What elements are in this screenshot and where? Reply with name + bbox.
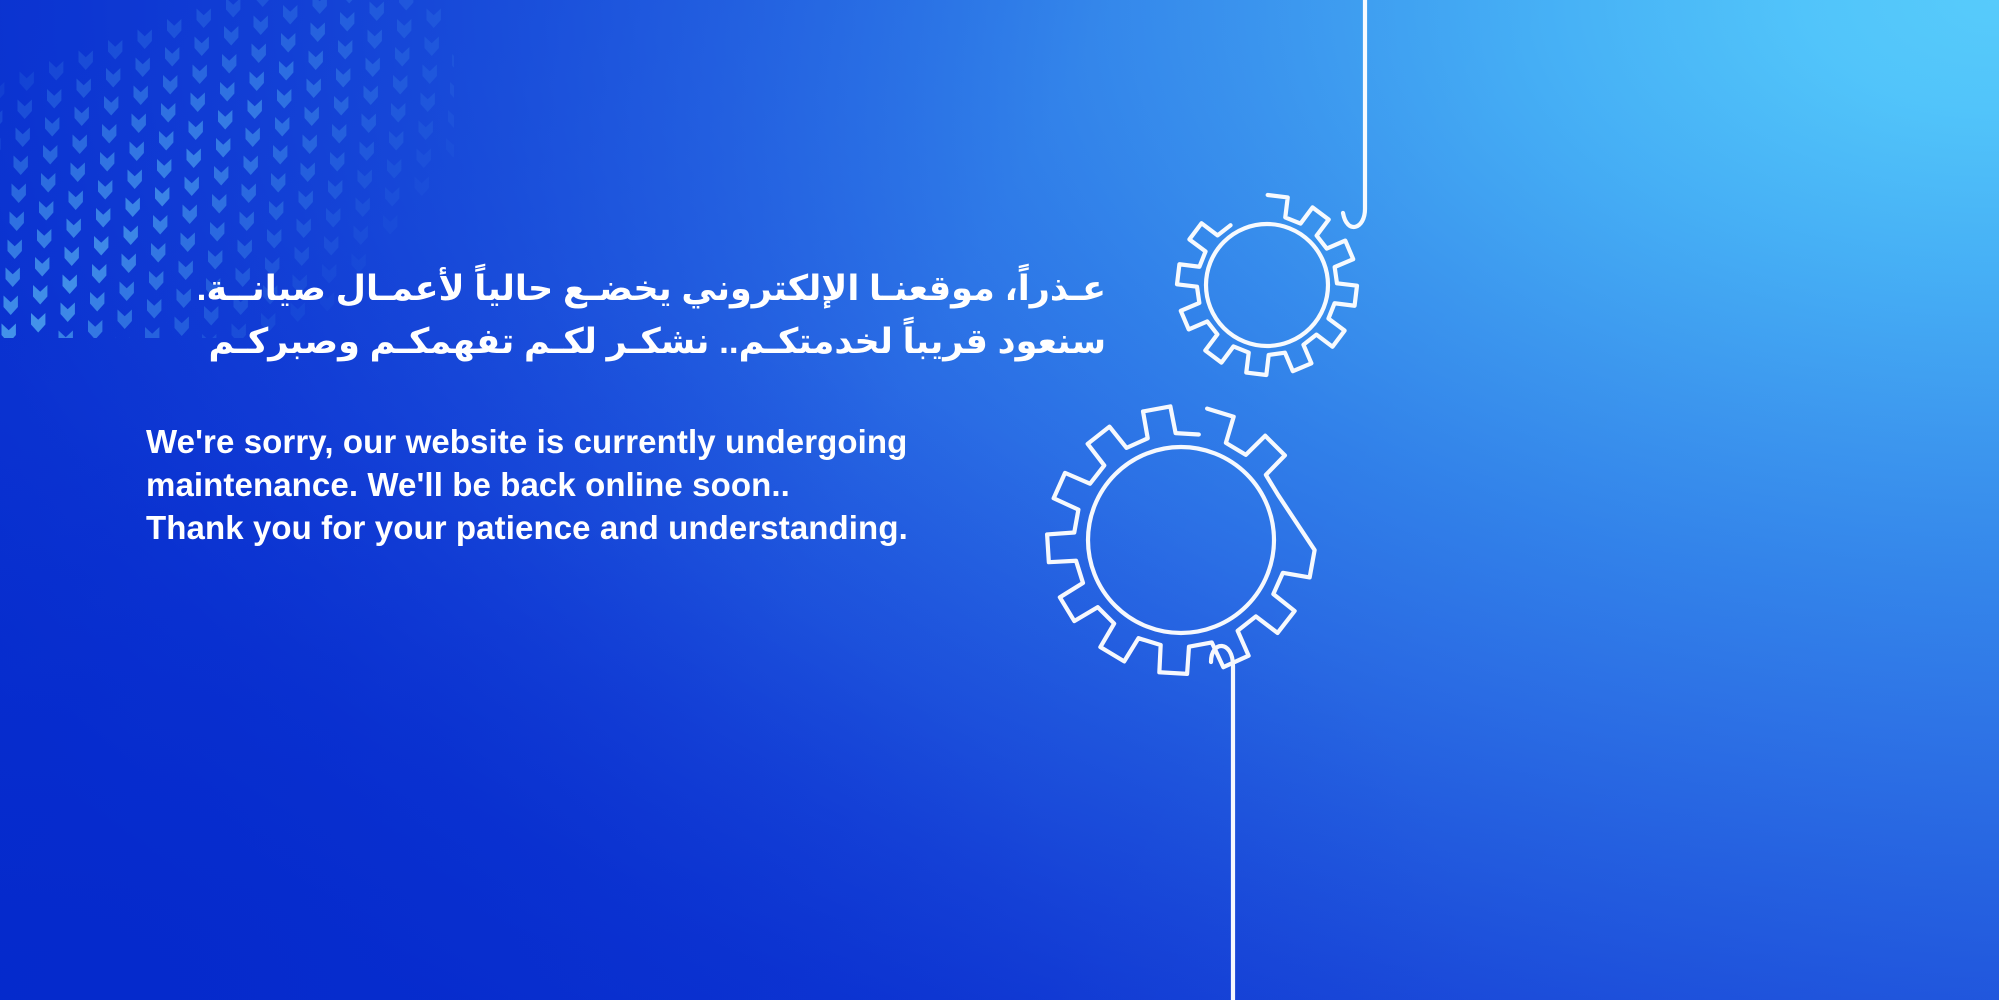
arabic-line-1: عـذراً، موقعنـا الإلكتروني يخضـع حالياً …: [146, 262, 1106, 315]
arabic-message: عـذراً، موقعنـا الإلكتروني يخضـع حالياً …: [146, 262, 1106, 368]
arabic-line-2: سنعود قريباً لخدمتكـم.. نشكـر لكـم تفهمك…: [146, 315, 1106, 368]
english-line-1: We're sorry, our website is currently un…: [146, 420, 1106, 463]
english-line-2: maintenance. We'll be back online soon..: [146, 463, 1106, 506]
english-line-3: Thank you for your patience and understa…: [146, 506, 1106, 549]
english-message: We're sorry, our website is currently un…: [146, 420, 1106, 549]
maintenance-page: عـذراً، موقعنـا الإلكتروني يخضـع حالياً …: [0, 0, 1999, 1000]
message-block: عـذراً، موقعنـا الإلكتروني يخضـع حالياً …: [146, 262, 1106, 549]
